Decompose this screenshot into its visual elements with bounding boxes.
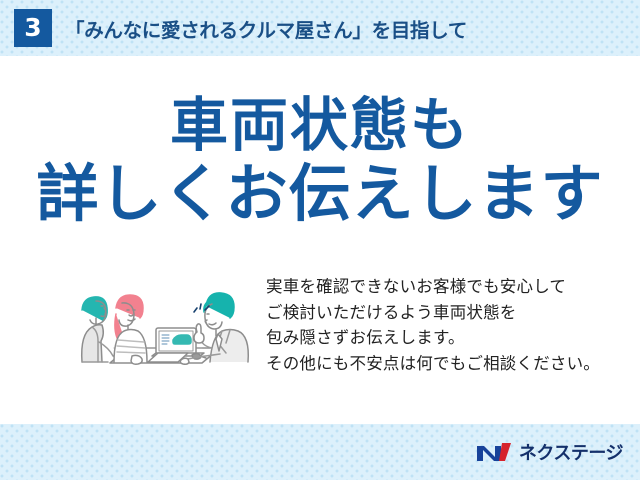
consultation-illustration-svg [52, 270, 252, 380]
header-band: 3 「みんなに愛されるクルマ屋さん」を目指して [0, 0, 640, 56]
nextage-logo-mark-icon [476, 440, 512, 464]
body-copy-line-1: 実車を確認できないお客様でも安心して [266, 274, 634, 300]
main-content: 車両状態も 詳しくお伝えします [0, 56, 640, 424]
body-copy-line-3: 包み隠さずお伝えします。 [266, 325, 634, 351]
header-content: 3 「みんなに愛されるクルマ屋さん」を目指して [0, 0, 640, 56]
headline-line-2: 詳しくお伝えします [0, 158, 640, 230]
lower-section: 実車を確認できないお客様でも安心して ご検討いただけるよう車両状態を 包み隠さず… [0, 270, 640, 420]
body-copy-line-4: その他にも不安点は何でもご相談ください。 [266, 351, 634, 377]
headline: 車両状態も 詳しくお伝えします [0, 92, 640, 230]
body-copy-line-2: ご検討いただけるよう車両状態を [266, 300, 634, 326]
body-copy: 実車を確認できないお客様でも安心して ご検討いただけるよう車両状態を 包み隠さず… [266, 274, 634, 376]
header-title: 「みんなに愛されるクルマ屋さん」を目指して [65, 14, 467, 43]
headline-line-1: 車両状態も [0, 92, 640, 158]
consultation-illustration [52, 270, 252, 380]
advertisement-page: 3 「みんなに愛されるクルマ屋さん」を目指して 車両状態も 詳しくお伝えします [0, 0, 640, 480]
step-number-badge: 3 [14, 9, 52, 47]
footer-band: ネクステージ [0, 424, 640, 480]
nextage-logo: ネクステージ [476, 438, 623, 466]
nextage-logo-text: ネクステージ [519, 439, 623, 465]
